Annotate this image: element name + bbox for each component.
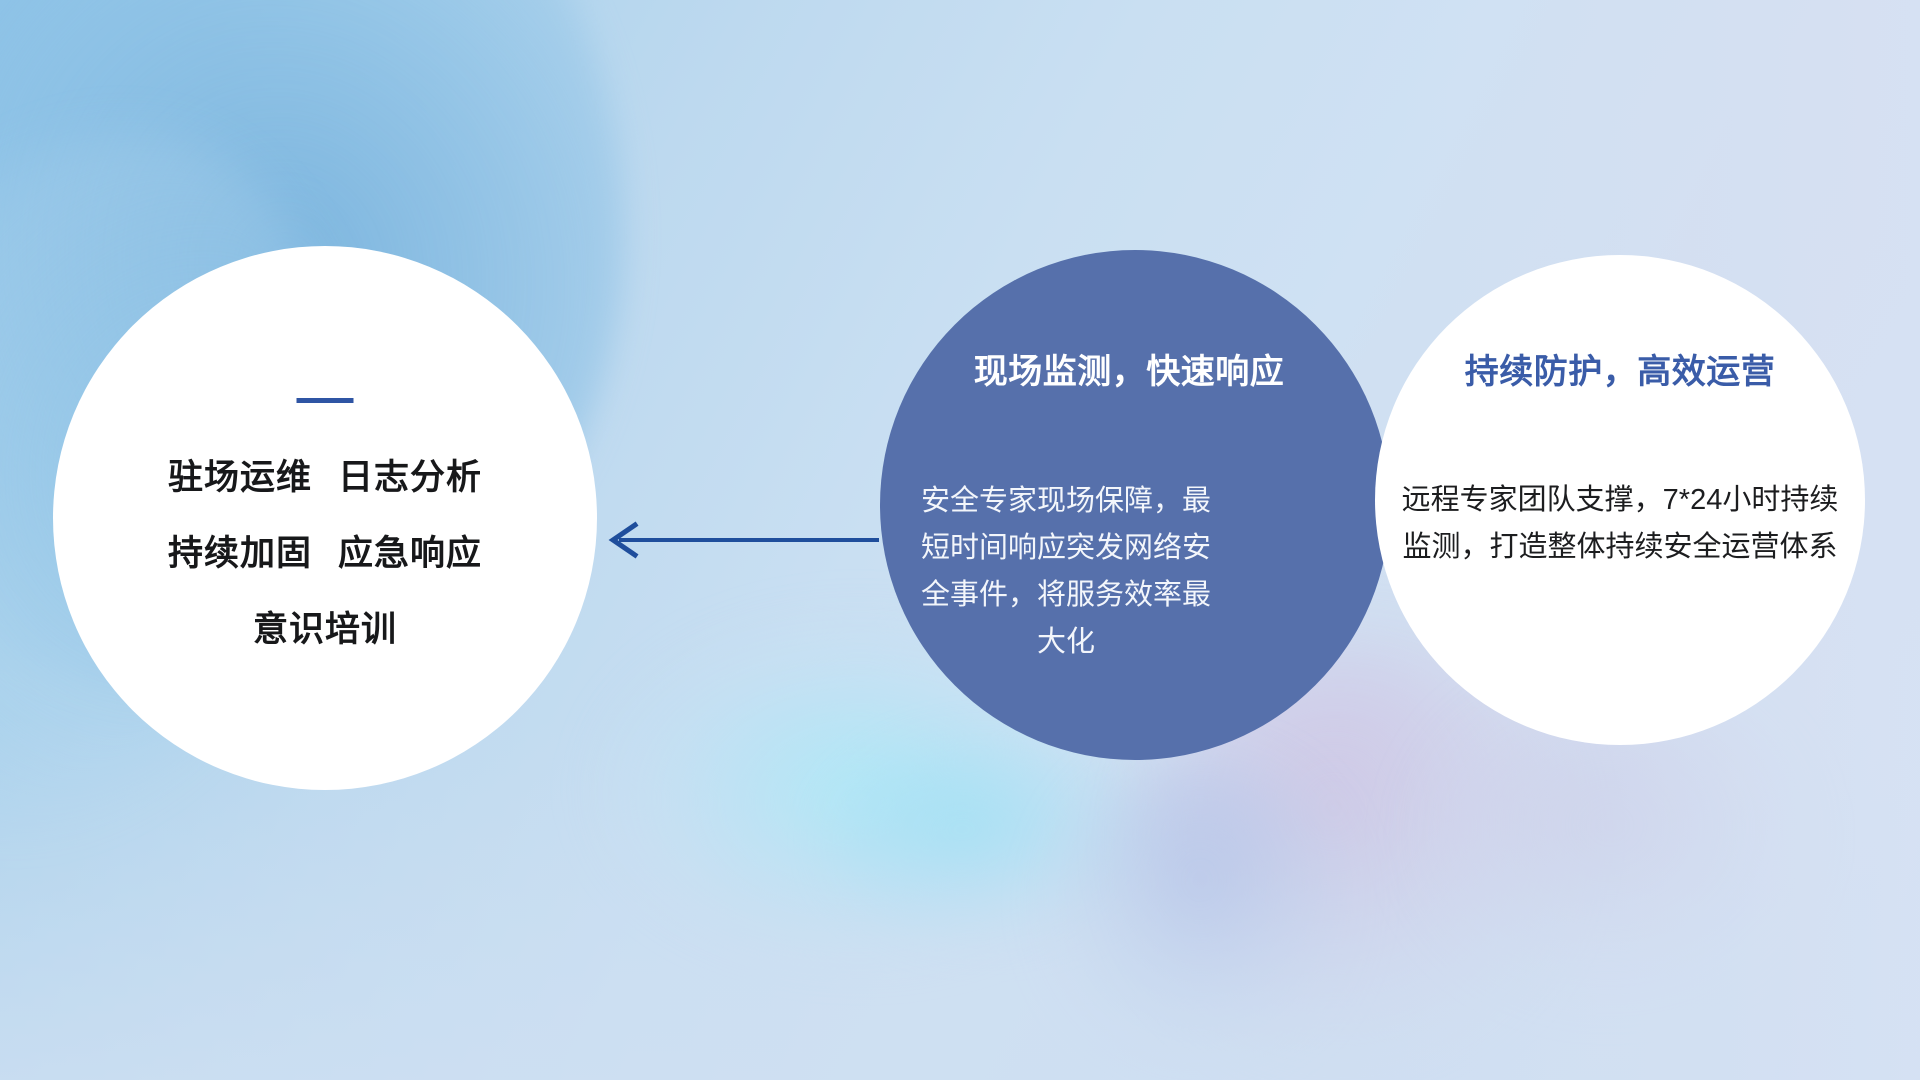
right-circle-body: 远程专家团队支撑，7*24小时持续监测，打造整体持续安全运营体系 [1397, 477, 1843, 571]
left-circle-content: 驻场运维日志分析 持续加固应急响应 意识培训 [53, 246, 597, 790]
capability-tag: 意识培训 [253, 610, 397, 649]
capability-tag: 持续加固 [168, 534, 312, 573]
capability-tag-list: 驻场运维日志分析 持续加固应急响应 意识培训 [53, 460, 597, 647]
right-circle-content: 持续防护，高效运营 远程专家团队支撑，7*24小时持续监测，打造整体持续安全运营… [1375, 255, 1865, 745]
capability-tag-row: 持续加固应急响应 [53, 536, 597, 571]
capability-tag: 日志分析 [338, 458, 482, 497]
capability-tag-row: 驻场运维日志分析 [53, 460, 597, 495]
accent-divider [297, 398, 354, 403]
middle-circle-content: 现场监测，快速响应 安全专家现场保障，最短时间响应突发网络安全事件，将服务效率最… [880, 250, 1390, 760]
slide-canvas: 驻场运维日志分析 持续加固应急响应 意识培训 现场监测，快速响应 安全专家现场保… [0, 0, 1920, 1080]
capability-tag: 应急响应 [338, 534, 482, 573]
middle-circle-title: 现场监测，快速响应 [874, 355, 1384, 389]
capability-tag-row: 意识培训 [53, 612, 597, 647]
middle-circle-body: 安全专家现场保障，最短时间响应突发网络安全事件，将服务效率最大化 [916, 478, 1216, 666]
right-circle-title: 持续防护，高效运营 [1375, 355, 1865, 389]
flow-arrow-left-icon [595, 512, 880, 568]
capability-tag: 驻场运维 [168, 458, 312, 497]
